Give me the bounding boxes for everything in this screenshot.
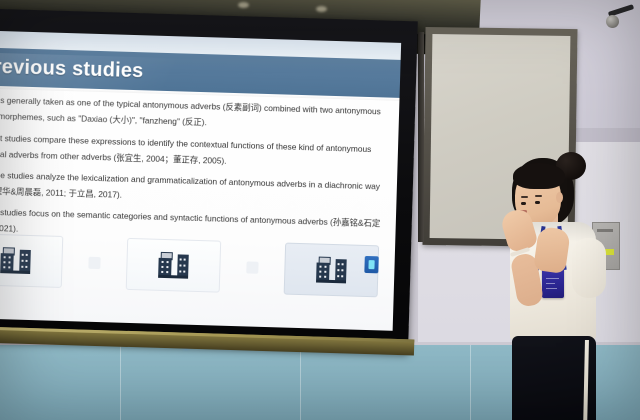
panel-side-edge [418, 32, 424, 242]
presentation-slide: Previous studies Zaowan" is generally ta… [0, 30, 401, 331]
ear [556, 192, 563, 203]
id-badge [542, 268, 564, 298]
office-building-icon [316, 257, 347, 284]
right-hand [533, 226, 571, 274]
studies-list: Most studies compare these expressions t… [0, 130, 398, 248]
card-separator [88, 257, 100, 269]
page-title: Previous studies [0, 54, 144, 82]
screenshot-root: Previous studies Zaowan" is generally ta… [0, 0, 640, 420]
office-building-icon [158, 252, 189, 279]
presenter [486, 150, 640, 420]
ceiling-camera-icon [604, 8, 634, 30]
icon-card-2[interactable] [126, 238, 222, 293]
icon-card-1[interactable] [0, 233, 63, 288]
app-badge-icon[interactable] [364, 256, 378, 273]
sleeve [572, 238, 606, 298]
list-item: Some studies analyze the lexicalization … [0, 167, 383, 210]
slide-body: Zaowan" is generally taken as one of the… [0, 92, 399, 254]
smartboard-screen[interactable]: Previous studies Zaowan" is generally ta… [0, 30, 401, 331]
office-building-icon [0, 247, 31, 274]
card-separator [246, 261, 258, 273]
icon-card-row [0, 230, 389, 300]
list-item: Most studies compare these expressions t… [0, 130, 384, 173]
hair-fringe [513, 163, 565, 189]
smartboard[interactable]: Previous studies Zaowan" is generally ta… [0, 8, 418, 361]
